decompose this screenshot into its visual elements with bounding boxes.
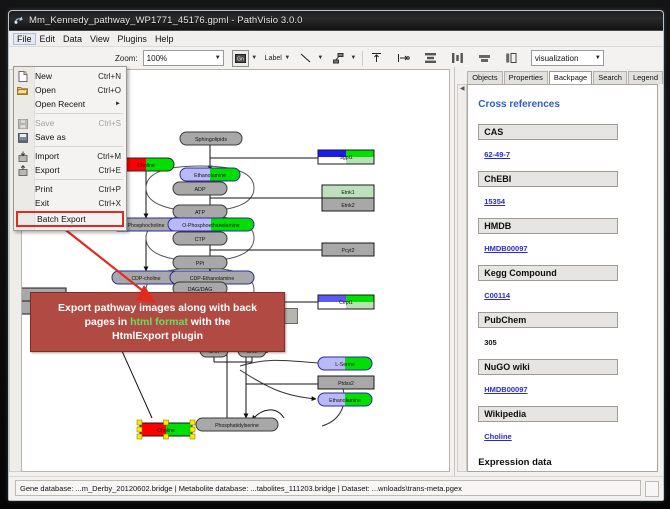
node-choline-selected[interactable]: Choline xyxy=(137,420,195,439)
menu-file[interactable]: File xyxy=(13,33,36,45)
menu-bar[interactable]: File Edit Data View Plugins Help xyxy=(9,31,663,47)
chevron-down-icon: ▼ xyxy=(215,55,221,61)
node-label: CDP-choline xyxy=(131,276,160,282)
line-dropdown-icon[interactable]: ▼ xyxy=(317,55,324,61)
application-window: Mm_Kennedy_pathway_WP1771_45176.gpml - P… xyxy=(8,10,664,501)
node-label: ATP xyxy=(195,210,205,216)
menu-item-open-recent[interactable]: Open Recent ► xyxy=(14,97,126,111)
xref-value-link[interactable]: 15354 xyxy=(484,197,505,206)
new-file-icon xyxy=(17,71,28,82)
node-label: L-Serine xyxy=(335,362,355,368)
xref-db-name: Kegg Compound xyxy=(478,265,618,281)
menu-item-label: Open xyxy=(35,85,98,95)
xref-value-link[interactable]: 62-49-7 xyxy=(484,150,510,159)
chevron-down-icon: ▼ xyxy=(595,55,601,61)
menu-item-exit[interactable]: Exit Ctrl+X xyxy=(14,196,126,210)
visualization-value: visualization xyxy=(535,54,579,63)
menu-item-export[interactable]: Export Ctrl+E xyxy=(14,163,126,177)
node-l-serine[interactable]: L-Serine xyxy=(318,357,372,370)
chevron-right-icon: ► xyxy=(115,101,126,107)
callout-line-2a: pages in xyxy=(85,316,131,328)
window-title: Mm_Kennedy_pathway_WP1771_45176.gpml - P… xyxy=(29,15,303,26)
menu-item-open[interactable]: Open Ctrl+O xyxy=(14,83,126,97)
menu-data[interactable]: Data xyxy=(59,33,86,45)
same-width-tool-icon[interactable] xyxy=(476,50,493,67)
xref-db-name: Wikipedia xyxy=(478,406,618,422)
desktop-background: Mm_Kennedy_pathway_WP1771_45176.gpml - P… xyxy=(0,0,670,509)
menu-item-accelerator: Ctrl+M xyxy=(97,152,126,161)
zoom-label: Zoom: xyxy=(115,54,138,63)
node-ethanolamine-2[interactable]: Ethanolamine xyxy=(318,393,372,406)
node-label: CTP xyxy=(195,237,206,243)
xref-db-name: CAS xyxy=(478,124,618,140)
side-panel: Objects Properties Backpage Search Legen… xyxy=(455,67,663,476)
callout-anchor-box xyxy=(283,308,298,324)
xref-value-link[interactable]: Choline xyxy=(484,432,512,441)
node-label: Ptdss2 xyxy=(338,381,354,387)
status-text: Gene database: ...m_Derby_20120602.bridg… xyxy=(15,480,641,496)
status-bar: Gene database: ...m_Derby_20120602.bridg… xyxy=(9,476,663,500)
menu-item-accelerator: Ctrl+P xyxy=(99,185,126,194)
node-sphingolipids[interactable]: Sphingolipids xyxy=(180,132,242,145)
side-panel-tabs[interactable]: Objects Properties Backpage Search Legen… xyxy=(455,70,663,84)
menu-item-label: Exit xyxy=(35,198,99,208)
toolbar-separator xyxy=(362,51,363,66)
file-menu-dropdown[interactable]: New Ctrl+N Open Ctrl+O Open Recent ► Sav… xyxy=(13,66,127,231)
line-tool-icon[interactable] xyxy=(298,50,315,67)
node-label: Ethanolamine xyxy=(194,173,226,179)
tab-backpage[interactable]: Backpage xyxy=(549,71,592,85)
xref-pubchem: PubChem 305 xyxy=(478,312,647,359)
interaction-tool-icon[interactable] xyxy=(331,50,348,67)
callout-box: Export pathway images along with back pa… xyxy=(30,292,285,352)
xref-cas: CAS 62-49-7 xyxy=(478,124,647,171)
menu-item-accelerator: Ctrl+E xyxy=(99,166,126,175)
folder-icon xyxy=(17,85,28,96)
xref-kegg-compound: Kegg Compound C00114 xyxy=(478,265,647,312)
node-adp[interactable]: ADP xyxy=(173,182,227,195)
callout-line-1: Export pathway images along with back xyxy=(58,302,257,314)
import-icon xyxy=(17,151,28,162)
tab-objects[interactable]: Objects xyxy=(467,71,502,84)
callout-highlight: html format xyxy=(130,316,188,328)
menu-item-new[interactable]: New Ctrl+N xyxy=(14,69,126,83)
menu-item-label: New xyxy=(35,71,98,81)
menu-item-print[interactable]: Print Ctrl+P xyxy=(14,182,126,196)
xref-db-name: PubChem xyxy=(478,312,618,328)
tab-legend[interactable]: Legend xyxy=(628,71,663,84)
node-pcyt2[interactable]: Pcyt2 xyxy=(322,243,374,256)
menu-plugins[interactable]: Plugins xyxy=(113,33,151,45)
node-label: Etnk1 xyxy=(341,190,354,196)
menu-item-label: Print xyxy=(35,184,99,194)
node-label: Ethanolamine xyxy=(329,398,361,404)
node-label: Sphingolipids xyxy=(195,137,227,143)
menu-item-accelerator: Ctrl+X xyxy=(99,199,126,208)
menu-item-accelerator: Ctrl+S xyxy=(99,119,126,128)
xref-value-link[interactable]: HMDB00097 xyxy=(484,244,527,253)
xref-hmdb: HMDB HMDB00097 xyxy=(478,218,647,265)
save-as-icon xyxy=(17,132,28,143)
node-cept1[interactable]: Cept1 xyxy=(318,295,374,309)
node-label: Choline xyxy=(157,428,175,434)
menu-item-label: Open Recent xyxy=(35,99,115,109)
menu-item-label: Export xyxy=(35,165,99,175)
node-o-phosphoethanolamine[interactable]: O-Phosphoethanolamine xyxy=(168,218,254,231)
svg-text:Gn: Gn xyxy=(237,56,244,62)
node-ctp[interactable]: CTP xyxy=(173,232,227,245)
menu-item-accelerator: Ctrl+O xyxy=(98,86,126,95)
node-phosphatidylserine[interactable]: Phosphatidylserine xyxy=(196,418,278,431)
node-label: Phosphatidylserine xyxy=(215,423,259,429)
node-ppi[interactable]: PPi xyxy=(173,256,227,269)
datanode-tool-icon[interactable]: Gn xyxy=(232,50,249,67)
node-etnk2[interactable]: Etnk2 xyxy=(322,198,374,211)
resize-grip[interactable] xyxy=(645,481,659,497)
menu-item-batch-export[interactable]: Batch Export xyxy=(16,211,124,227)
menu-help[interactable]: Help xyxy=(151,33,178,45)
cross-references-title: Cross references xyxy=(478,99,647,110)
callout-line-3: HtmlExport plugin xyxy=(112,330,203,342)
menu-view[interactable]: View xyxy=(86,33,113,45)
callout-line-2b: with the xyxy=(188,316,231,328)
label-dropdown-icon[interactable]: ▼ xyxy=(284,55,291,61)
node-label: Pcyt2 xyxy=(342,248,355,254)
visualization-combobox[interactable]: visualization ▼ xyxy=(531,50,604,66)
node-label: O-Phosphoethanolamine xyxy=(182,223,240,229)
node-ethanolamine-1[interactable]: Ethanolamine xyxy=(180,168,240,181)
backpage-content: Cross references CAS 62-49-7 ChEBI 15354… xyxy=(467,84,658,472)
node-sgpl1[interactable]: Sgpl1 xyxy=(318,150,374,164)
xref-chebi: ChEBI 15354 xyxy=(478,171,647,218)
callout-text: Export pathway images along with back pa… xyxy=(52,301,263,343)
app-icon xyxy=(13,15,24,26)
label-tool-label[interactable]: Label xyxy=(265,55,282,62)
menu-item-accelerator: Ctrl+N xyxy=(98,72,126,81)
xref-value-link[interactable]: C00114 xyxy=(484,291,510,300)
expression-data-title: Expression data xyxy=(478,457,647,468)
zoom-combobox[interactable]: 100% ▼ xyxy=(143,50,224,66)
xref-db-name: HMDB xyxy=(478,218,618,234)
side-panel-collapse-strip[interactable]: ◀ xyxy=(457,84,467,472)
node-label: Choline xyxy=(137,163,155,169)
menu-item-label: Import xyxy=(35,151,97,161)
xref-value-text: 305 xyxy=(484,338,497,347)
node-label: PPi xyxy=(196,261,204,267)
same-height-tool-icon[interactable] xyxy=(503,50,520,67)
distribute-horizontal-tool-icon[interactable] xyxy=(449,50,466,67)
xref-nugo-wiki: NuGO wiki HMDB00097 xyxy=(478,359,647,406)
node-atp[interactable]: ATP xyxy=(173,205,227,218)
node-label: Etnk2 xyxy=(341,203,354,209)
export-icon xyxy=(17,165,28,176)
xref-wikipedia: Wikipedia Choline xyxy=(478,406,647,453)
node-label: Sgpl1 xyxy=(339,155,352,161)
xref-db-name: ChEBI xyxy=(478,171,618,187)
menu-separator xyxy=(35,179,123,180)
node-label: ADP xyxy=(194,187,205,193)
menu-separator xyxy=(35,146,123,147)
node-label: CDP-Ethanolamine xyxy=(190,276,235,282)
tab-properties[interactable]: Properties xyxy=(504,71,548,84)
menu-edit[interactable]: Edit xyxy=(36,33,60,45)
node-etnk1[interactable]: Etnk1 xyxy=(322,185,374,198)
menu-item-save: Save Ctrl+S xyxy=(14,116,126,130)
xref-db-name: NuGO wiki xyxy=(478,359,618,375)
zoom-value: 100% xyxy=(147,54,167,63)
interaction-dropdown-icon[interactable]: ▼ xyxy=(350,55,357,61)
tab-search[interactable]: Search xyxy=(593,71,627,84)
align-left-tool-icon[interactable] xyxy=(395,50,412,67)
datanode-dropdown-icon[interactable]: ▼ xyxy=(251,55,258,61)
title-bar: Mm_Kennedy_pathway_WP1771_45176.gpml - P… xyxy=(9,11,663,31)
menu-separator xyxy=(35,113,123,114)
save-icon xyxy=(17,118,28,129)
xref-value-link[interactable]: HMDB00097 xyxy=(484,385,527,394)
align-top-tool-icon[interactable] xyxy=(368,50,385,67)
node-label: Phosphocholine xyxy=(128,223,165,229)
menu-item-label: Batch Export xyxy=(37,214,122,224)
node-ptdss2[interactable]: Ptdss2 xyxy=(318,376,374,389)
node-label: Cept1 xyxy=(339,300,353,306)
distribute-vertical-tool-icon[interactable] xyxy=(422,50,439,67)
menu-item-import[interactable]: Import Ctrl+M xyxy=(14,149,126,163)
menu-item-label: Save as xyxy=(35,132,121,142)
menu-item-label: Save xyxy=(35,118,99,128)
menu-item-save-as[interactable]: Save as xyxy=(14,130,126,144)
